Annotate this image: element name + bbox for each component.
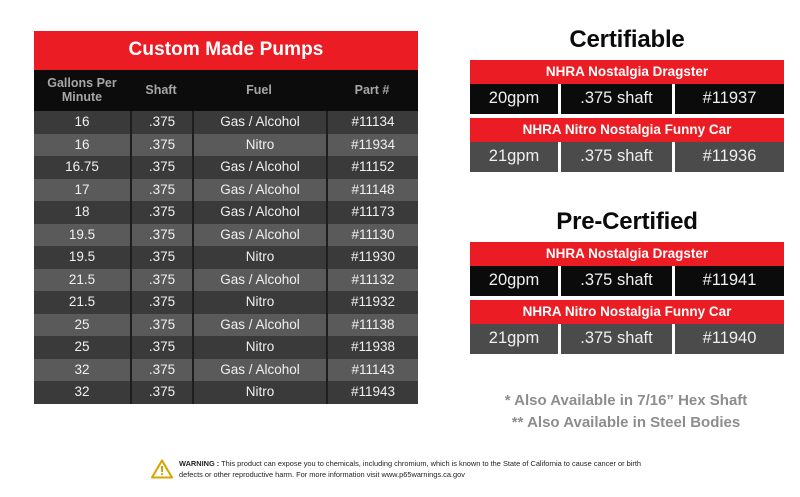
certifiable-group-1-header: NHRA Nitro Nostalgia Funny Car <box>470 118 784 142</box>
column-header-gpm-line1: Gallons Per <box>47 76 116 90</box>
table-row: 21.5.375Nitro#11932 <box>34 291 418 314</box>
cell-fuel: Gas / Alcohol <box>192 359 326 382</box>
footnote-line-1: * Also Available in 7/16” Hex Shaft <box>466 390 786 412</box>
table-row: 32.375Nitro#11943 <box>34 381 418 404</box>
cell-fuel: Nitro <box>192 246 326 269</box>
cell-fuel: Nitro <box>192 291 326 314</box>
cell-fuel: Nitro <box>192 381 326 404</box>
warning-label: WARNING : <box>179 459 219 468</box>
precertified-group-1-header: NHRA Nitro Nostalgia Funny Car <box>470 300 784 324</box>
cell-gpm: 21.5 <box>34 291 130 314</box>
cell-gpm: 16.75 <box>34 156 130 179</box>
precertified-group-0-header-row: NHRA Nostalgia Dragster <box>470 242 784 266</box>
precertified-group-1-gpm: 21gpm <box>470 324 558 354</box>
column-header-gallons-per-minute: Gallons Per Minute <box>34 70 130 111</box>
precertified-group-1-shaft: .375 shaft <box>558 324 672 354</box>
precertified-group-0-part: #11941 <box>672 266 784 296</box>
cell-gpm: 17 <box>34 179 130 202</box>
precertified-group-0-gpm: 20gpm <box>470 266 558 296</box>
certifiable-group-0-header: NHRA Nostalgia Dragster <box>470 60 784 84</box>
cell-fuel: Gas / Alcohol <box>192 269 326 292</box>
cell-shaft: .375 <box>130 156 192 179</box>
precertified-group-1-data-row: 21gpm .375 shaft #11940 <box>470 324 784 354</box>
table-row: 25.375Gas / Alcohol#11138 <box>34 314 418 337</box>
cell-gpm: 32 <box>34 359 130 382</box>
table-row: 25.375Nitro#11938 <box>34 336 418 359</box>
certifiable-group-0-shaft: .375 shaft <box>558 84 672 114</box>
prop65-warning: WARNING : This product can expose you to… <box>0 458 800 481</box>
certifiable-group-0-gpm: 20gpm <box>470 84 558 114</box>
cell-shaft: .375 <box>130 179 192 202</box>
main-table-title: Custom Made Pumps <box>34 31 418 70</box>
cell-shaft: .375 <box>130 291 192 314</box>
cell-gpm: 21.5 <box>34 269 130 292</box>
cell-part: #11943 <box>326 381 418 404</box>
warning-text: WARNING : This product can expose you to… <box>179 458 649 481</box>
cell-shaft: .375 <box>130 381 192 404</box>
cell-gpm: 25 <box>34 336 130 359</box>
certifiable-table-body: NHRA Nostalgia Dragster 20gpm .375 shaft… <box>470 60 784 172</box>
cell-part: #11134 <box>326 111 418 134</box>
precertified-group-0-shaft: .375 shaft <box>558 266 672 296</box>
cell-shaft: .375 <box>130 246 192 269</box>
table-row: 32.375Gas / Alcohol#11143 <box>34 359 418 382</box>
cell-gpm: 25 <box>34 314 130 337</box>
certifiable-group-0-data-row: 20gpm .375 shaft #11937 <box>470 84 784 114</box>
precertified-group-1-part: #11940 <box>672 324 784 354</box>
cell-shaft: .375 <box>130 201 192 224</box>
cell-fuel: Gas / Alcohol <box>192 201 326 224</box>
table-row: 16.375Gas / Alcohol#11134 <box>34 111 418 134</box>
cell-part: #11930 <box>326 246 418 269</box>
cell-part: #11932 <box>326 291 418 314</box>
cell-fuel: Nitro <box>192 336 326 359</box>
cell-shaft: .375 <box>130 336 192 359</box>
custom-made-pumps-table: Custom Made Pumps Gallons Per Minute Sha… <box>34 31 418 404</box>
cell-gpm: 16 <box>34 111 130 134</box>
cell-fuel: Gas / Alcohol <box>192 314 326 337</box>
main-table-head: Custom Made Pumps Gallons Per Minute Sha… <box>34 31 418 111</box>
cell-shaft: .375 <box>130 314 192 337</box>
cell-part: #11148 <box>326 179 418 202</box>
precertified-table: NHRA Nostalgia Dragster 20gpm .375 shaft… <box>470 242 784 354</box>
certifiable-table: NHRA Nostalgia Dragster 20gpm .375 shaft… <box>470 60 784 172</box>
main-title-row: Custom Made Pumps <box>34 31 418 70</box>
footnote-line-2: ** Also Available in Steel Bodies <box>466 412 786 434</box>
column-header-fuel: Fuel <box>192 70 326 111</box>
footnotes: * Also Available in 7/16” Hex Shaft ** A… <box>466 390 786 434</box>
cell-part: #11934 <box>326 134 418 157</box>
certifiable-group-1-gpm: 21gpm <box>470 142 558 172</box>
certifiable-group-0-part: #11937 <box>672 84 784 114</box>
cell-part: #11143 <box>326 359 418 382</box>
precertified-group-0-data-row: 20gpm .375 shaft #11941 <box>470 266 784 296</box>
cell-shaft: .375 <box>130 269 192 292</box>
cell-shaft: .375 <box>130 224 192 247</box>
table-row: 19.5.375Gas / Alcohol#11130 <box>34 224 418 247</box>
cell-gpm: 18 <box>34 201 130 224</box>
cell-shaft: .375 <box>130 111 192 134</box>
column-header-part: Part # <box>326 70 418 111</box>
precertified-group-0-header: NHRA Nostalgia Dragster <box>470 242 784 266</box>
cell-fuel: Gas / Alcohol <box>192 179 326 202</box>
cell-fuel: Gas / Alcohol <box>192 156 326 179</box>
precertified-table-body: NHRA Nostalgia Dragster 20gpm .375 shaft… <box>470 242 784 354</box>
table-row: 21.5.375Gas / Alcohol#11132 <box>34 269 418 292</box>
cell-part: #11130 <box>326 224 418 247</box>
cell-part: #11152 <box>326 156 418 179</box>
table-row: 19.5.375Nitro#11930 <box>34 246 418 269</box>
cell-part: #11173 <box>326 201 418 224</box>
precertified-panel: Pre-Certified NHRA Nostalgia Dragster 20… <box>470 208 784 354</box>
certifiable-group-1-shaft: .375 shaft <box>558 142 672 172</box>
cell-part: #11132 <box>326 269 418 292</box>
cell-gpm: 19.5 <box>34 246 130 269</box>
main-table-body: 16.375Gas / Alcohol#1113416.375Nitro#119… <box>34 111 418 404</box>
certifiable-group-1-data-row: 21gpm .375 shaft #11936 <box>470 142 784 172</box>
cell-shaft: .375 <box>130 359 192 382</box>
cell-fuel: Gas / Alcohol <box>192 224 326 247</box>
certifiable-title: Certifiable <box>470 26 784 54</box>
table-row: 16.75.375Gas / Alcohol#11152 <box>34 156 418 179</box>
cell-gpm: 16 <box>34 134 130 157</box>
pump-spec-sheet: Custom Made Pumps Gallons Per Minute Sha… <box>0 0 800 497</box>
certifiable-group-1-part: #11936 <box>672 142 784 172</box>
cell-fuel: Gas / Alcohol <box>192 111 326 134</box>
cell-part: #11938 <box>326 336 418 359</box>
cell-shaft: .375 <box>130 134 192 157</box>
cell-fuel: Nitro <box>192 134 326 157</box>
warning-triangle-icon <box>151 459 173 479</box>
cell-gpm: 19.5 <box>34 224 130 247</box>
main-table-header-row: Gallons Per Minute Shaft Fuel Part # <box>34 70 418 111</box>
cell-gpm: 32 <box>34 381 130 404</box>
certifiable-panel: Certifiable NHRA Nostalgia Dragster 20gp… <box>470 26 784 172</box>
column-header-shaft: Shaft <box>130 70 192 111</box>
precertified-title: Pre-Certified <box>470 208 784 236</box>
cell-part: #11138 <box>326 314 418 337</box>
precertified-group-1-header-row: NHRA Nitro Nostalgia Funny Car <box>470 300 784 324</box>
certifiable-group-0-header-row: NHRA Nostalgia Dragster <box>470 60 784 84</box>
certifiable-group-1-header-row: NHRA Nitro Nostalgia Funny Car <box>470 118 784 142</box>
table-row: 18.375Gas / Alcohol#11173 <box>34 201 418 224</box>
table-row: 17.375Gas / Alcohol#11148 <box>34 179 418 202</box>
warning-body: This product can expose you to chemicals… <box>179 459 641 479</box>
column-header-gpm-line2: Minute <box>62 90 102 104</box>
table-row: 16.375Nitro#11934 <box>34 134 418 157</box>
